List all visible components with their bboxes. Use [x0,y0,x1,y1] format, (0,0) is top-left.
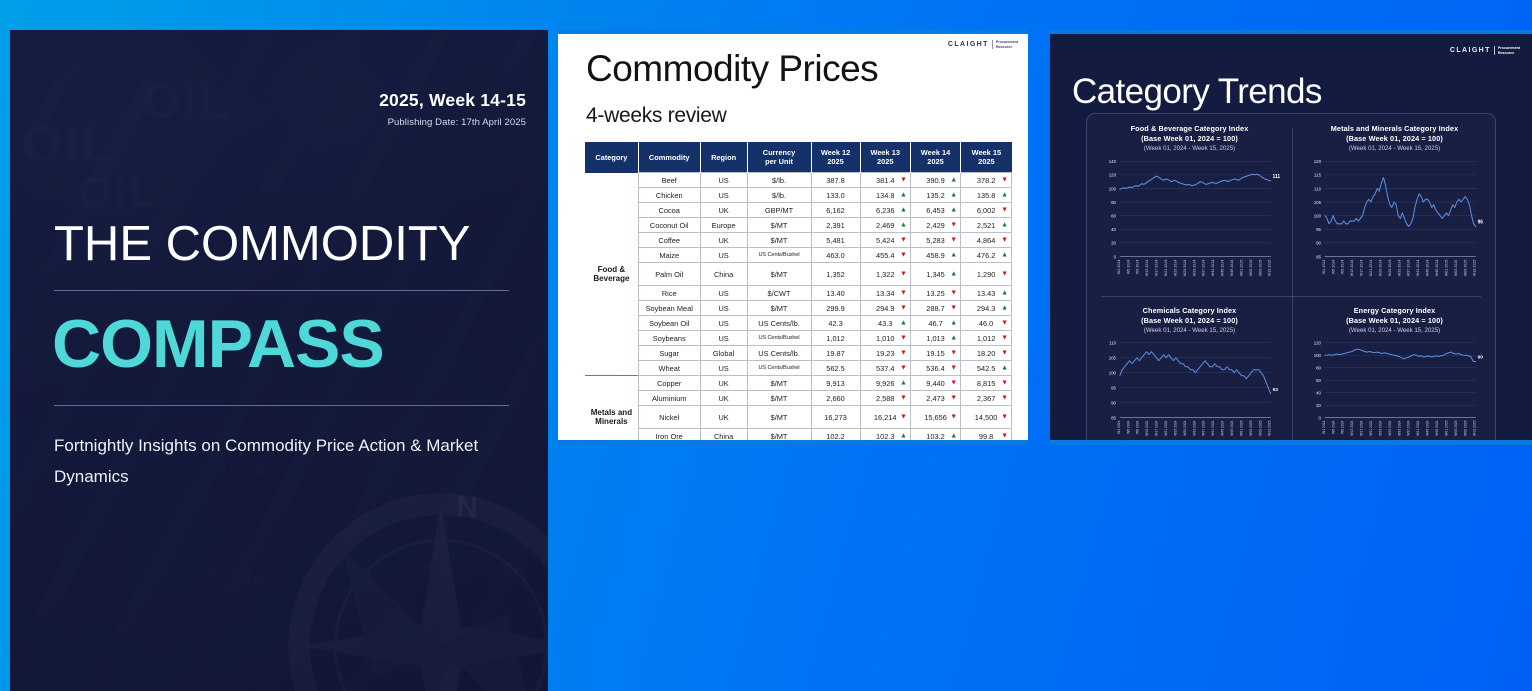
y-axis-tick-label: 120 [1109,173,1117,178]
arrow-down-icon: ▼ [950,350,957,357]
x-axis-tick-label: W45 2024 [1426,260,1430,277]
y-axis-tick-label: 90 [1111,400,1116,405]
week13-value: 19.23▼ [860,346,910,361]
x-axis-tick-label: W13 2025 [1268,260,1272,277]
week14-value: 19.15▼ [910,346,960,361]
cover-subtitle: Fortnightly Insights on Commodity Price … [54,430,504,492]
series-line [1120,174,1271,189]
week12-value: 2,069 [811,444,860,446]
week12-value: 133.0 [811,188,860,203]
x-axis-tick-label: W25 2024 [1173,420,1177,435]
currency-unit: $/MT [747,218,811,233]
week12-value: 6,162 [811,203,860,218]
week14-value: 135.2▲ [910,188,960,203]
week12-value: 299.9 [811,301,860,316]
week13-value: 43.3▲ [860,316,910,331]
commodity-name: Maize [638,248,700,263]
arrow-down-icon: ▼ [900,365,907,372]
series-end-label: 93 [1273,387,1279,393]
arrow-down-icon: ▼ [950,222,957,229]
chart-title: Metals and Minerals Category Index [1292,124,1497,134]
chart-range-note: (Week 01, 2024 - Week 15, 2025) [1087,326,1292,335]
week14-value: 458.9▲ [910,248,960,263]
region-name: China [700,429,747,444]
arrow-down-icon: ▼ [950,305,957,312]
x-axis-tick-label: W33 2024 [1192,420,1196,435]
week12-value: 19.87 [811,346,860,361]
category-spacer [585,444,638,446]
x-axis-tick-label: W29 2024 [1388,260,1392,277]
chart-subtitle: (Base Week 01, 2024 = 100) [1087,316,1292,326]
x-axis-tick-label: W37 2024 [1407,420,1411,435]
week14-value: 6,453▲ [910,203,960,218]
week14-value: 288.7▼ [910,301,960,316]
chart-metals-minerals[interactable]: Metals and Minerals Category Index (Base… [1292,114,1497,296]
week14-value: 1,969▼ [910,444,960,446]
category-spacer [585,233,638,248]
cover-divider-top [54,290,509,291]
week13-value: 381.4▼ [860,173,910,188]
table-row[interactable]: Metals andMineralsNickelUK$/MT16,27316,2… [585,406,1012,429]
category-spacer [585,391,638,406]
x-axis-tick-label: W41 2024 [1211,260,1215,277]
y-axis-tick-label: 95 [1316,227,1321,232]
commodity-name: Beef [638,173,700,188]
x-axis-tick-label: W25 2024 [1378,420,1382,435]
column-header-4[interactable]: Week 122025 [811,142,860,173]
currency-unit: $/CWT [747,286,811,301]
x-axis-tick-label: W13 2025 [1473,420,1477,435]
chart-title: Chemicals Category Index [1087,306,1292,316]
week14-value: 536.4▼ [910,361,960,376]
week14-value: 15,656▼ [910,406,960,429]
x-axis-tick-label: W17 2024 [1360,260,1364,277]
chart-range-note: (Week 01, 2024 - Week 15, 2025) [1292,144,1497,153]
column-header-1[interactable]: Commodity [638,142,700,173]
x-axis-tick-label: W1 2024 [1322,420,1326,433]
region-name: US [700,188,747,203]
x-axis-tick-label: W1 2024 [1117,260,1121,275]
arrow-down-icon: ▼ [900,395,907,402]
commodity-name: Copper [638,376,700,391]
chart-subtitle: (Base Week 01, 2024 = 100) [1292,316,1497,326]
x-axis-tick-label: W41 2024 [1416,260,1420,277]
region-name: US [700,331,747,346]
arrow-up-icon: ▲ [950,320,957,327]
chart-energy[interactable]: Energy Category Index (Base Week 01, 202… [1292,296,1497,445]
x-axis-tick-label: W49 2024 [1435,260,1439,277]
category-spacer [585,361,638,376]
x-axis-tick-label: W17 2024 [1155,260,1159,277]
arrow-down-icon: ▼ [900,414,907,421]
table-row[interactable]: WheatUSUS Cents/Bushel562.5537.4▼536.4▼5… [585,361,1012,376]
claight-logo: CLAIGHT Procurement Resource [948,40,1018,49]
claight-logo: CLAIGHT Procurement Resource [1450,46,1520,55]
week12-value: 13.40 [811,286,860,301]
week15-value: 99.8▼ [961,429,1012,444]
arrow-up-icon: ▲ [1001,290,1008,297]
arrow-down-icon: ▼ [900,290,907,297]
week15-value: 4,864▼ [961,233,1012,248]
table-row[interactable]: Coconut OilEurope$/MT2,3912,469▲2,429▼2,… [585,218,1012,233]
arrow-down-icon: ▼ [950,380,957,387]
arrow-down-icon: ▼ [1001,271,1008,278]
week13-value: 1,322▼ [860,263,910,286]
y-axis-tick-label: 0 [1319,415,1322,420]
category-spacer [585,248,638,263]
logo-tagline: Procurement Resource [996,40,1018,49]
cover-title-line2: COMPASS [52,310,384,378]
arrow-up-icon: ▲ [1001,192,1008,199]
week12-value: 42.3 [811,316,860,331]
week13-value: 102.3▲ [860,429,910,444]
chart-plot-area: 85909510010511093W1 2024W5 2024W9 2024W1… [1095,338,1286,445]
table-row[interactable]: Soybean MealUS$/MT299.9294.9▼288.7▼294.3… [585,301,1012,316]
x-axis-tick-label: W01 2025 [1239,420,1243,435]
week14-value: 1,013▲ [910,331,960,346]
currency-unit: $/MT [747,376,811,391]
y-axis-tick-label: 100 [1109,186,1117,191]
cover-content: 2025, Week 14-15 Publishing Date: 17th A… [10,30,548,691]
table-row[interactable]: CocoaUKGBP/MT6,1626,236▲6,453▲6,002▼ [585,203,1012,218]
x-axis-tick-label: W29 2024 [1183,420,1187,435]
x-axis-tick-label: W45 2024 [1221,260,1225,277]
chart-heading: Food & Beverage Category Index (Base Wee… [1087,114,1292,153]
region-name: Europe [700,218,747,233]
week15-value: 1,290▼ [961,263,1012,286]
category-label: Food &Beverage [585,263,638,286]
arrow-down-icon: ▼ [1001,207,1008,214]
y-axis-tick-label: 120 [1314,159,1322,164]
commodity-name: Cocoa [638,203,700,218]
cover-publishing-date: Publishing Date: 17th April 2025 [388,117,526,128]
page-title: Commodity Prices [586,48,878,90]
week15-value: 8,815▼ [961,376,1012,391]
currency-unit: $/lb. [747,173,811,188]
currency-unit: $/MT [747,391,811,406]
category-spacer [585,301,638,316]
chart-plot-area: 02040608010012090W1 2024W5 2024W9 2024W1… [1300,338,1491,445]
column-header-7[interactable]: Week 152025 [961,142,1012,173]
week14-value: 9,440▼ [910,376,960,391]
table-row[interactable]: SoybeansUSUS Cents/Bushel1,0121,010▼1,01… [585,331,1012,346]
x-axis-tick-label: W49 2024 [1230,420,1234,435]
week15-value: 6,002▼ [961,203,1012,218]
x-axis-tick-label: W41 2024 [1416,420,1420,435]
region-name: UK [700,233,747,248]
chart-subtitle: (Base Week 01, 2024 = 100) [1292,134,1497,144]
x-axis-tick-label: W05 2025 [1454,260,1458,277]
commodity-price-table[interactable]: CategoryCommodityRegionCurrencyper UnitW… [585,142,1012,445]
chart-plot-area: 020406080100120140111W1 2024W5 2024W9 20… [1095,156,1286,292]
cover-week-label: 2025, Week 14-15 [379,90,526,111]
x-axis-tick-label: W29 2024 [1388,420,1392,435]
currency-unit: $/MT [747,406,811,429]
region-name: UK [700,376,747,391]
week13-value: 2,469▲ [860,218,910,233]
arrow-down-icon: ▼ [1001,335,1008,342]
week14-value: 103.2▲ [910,429,960,444]
x-axis-tick-label: W17 2024 [1155,420,1159,435]
x-axis-tick-label: W1 2024 [1322,260,1326,275]
commodity-name: Iron Ore [638,429,700,444]
x-axis-tick-label: W01 2025 [1445,260,1449,277]
arrow-down-icon: ▼ [900,335,907,342]
commodity-name: Chicken [638,188,700,203]
x-axis-tick-label: W33 2024 [1192,260,1196,277]
arrow-up-icon: ▲ [950,192,957,199]
currency-unit: $/MT [747,301,811,316]
x-axis-tick-label: W13 2024 [1145,260,1149,277]
currency-unit: GBP/MT [747,203,811,218]
x-axis-tick-label: W05 2025 [1249,260,1253,277]
week14-value: 390.9▲ [910,173,960,188]
x-axis-tick-label: W09 2025 [1258,260,1262,277]
commodity-prices-slide[interactable]: CLAIGHT Procurement Resource Commodity P… [558,30,1028,445]
region-name: US [700,316,747,331]
table-row[interactable]: LeadUK$/MT2,0692,058▼1,969▼1,881▼ [585,444,1012,446]
x-axis-tick-label: W09 2025 [1463,260,1467,277]
y-axis-tick-label: 100 [1314,353,1322,358]
region-name: US [700,301,747,316]
y-axis-tick-label: 20 [1316,403,1321,408]
week15-value: 1,881▼ [961,444,1012,446]
cover-slide[interactable]: OIL OIL OIL FINE COPPER 1000g 999.9 N 20… [10,30,548,691]
region-name: US [700,173,747,188]
table-row[interactable]: AluminiumUK$/MT2,6602,588▼2,473▼2,367▼ [585,391,1012,406]
x-axis-tick-label: W09 2025 [1463,420,1467,435]
category-label: Metals andMinerals [585,406,638,429]
region-name: US [700,286,747,301]
arrow-down-icon: ▼ [1001,433,1008,440]
week15-value: 18.20▼ [961,346,1012,361]
x-axis-tick-label: W09 2025 [1258,420,1262,435]
y-axis-tick-label: 115 [1314,173,1321,178]
region-name: US [700,361,747,376]
week15-value: 2,367▼ [961,391,1012,406]
week12-value: 16,273 [811,406,860,429]
arrow-up-icon: ▲ [950,252,957,259]
x-axis-tick-label: W9 2024 [1136,260,1140,275]
chart-range-note: (Week 01, 2024 - Week 15, 2025) [1292,326,1497,335]
chart-food-beverage[interactable]: Food & Beverage Category Index (Base Wee… [1087,114,1292,296]
x-axis-tick-label: W21 2024 [1369,260,1373,277]
x-axis-tick-label: W49 2024 [1435,420,1439,435]
x-axis-tick-label: W21 2024 [1164,420,1168,435]
x-axis-tick-label: W13 2024 [1350,260,1354,277]
arrow-down-icon: ▼ [1001,380,1008,387]
week15-value: 2,521▲ [961,218,1012,233]
logo-wordmark: CLAIGHT [948,41,989,48]
x-axis-tick-label: W5 2024 [1126,420,1130,433]
arrow-up-icon: ▲ [1001,252,1008,259]
chart-heading: Chemicals Category Index (Base Week 01, … [1087,296,1292,335]
y-axis-tick-label: 20 [1111,241,1116,246]
week14-value: 1,345▲ [910,263,960,286]
arrow-down-icon: ▼ [900,350,907,357]
y-axis-tick-label: 85 [1111,415,1116,420]
x-axis-tick-label: W05 2025 [1454,420,1458,435]
week13-value: 13.34▼ [860,286,910,301]
week13-value: 16,214▼ [860,406,910,429]
region-name: US [700,248,747,263]
arrow-down-icon: ▼ [900,177,907,184]
x-axis-tick-label: W9 2024 [1341,260,1345,275]
column-header-3[interactable]: Currencyper Unit [747,142,811,173]
week14-value: 2,473▼ [910,391,960,406]
y-axis-tick-label: 40 [1316,390,1321,395]
x-axis-tick-label: W21 2024 [1369,420,1373,435]
x-axis-tick-label: W5 2024 [1331,420,1335,433]
region-name: UK [700,406,747,429]
commodity-name: Soybeans [638,331,700,346]
region-name: UK [700,391,747,406]
week15-value: 476.2▲ [961,248,1012,263]
x-axis-tick-label: W5 2024 [1126,260,1130,275]
logo-divider [992,40,993,49]
x-axis-tick-label: W37 2024 [1202,420,1206,435]
arrow-up-icon: ▲ [900,192,907,199]
table-row[interactable]: Soybean OilUSUS Cents/lb.42.343.3▲46.7▲4… [585,316,1012,331]
logo-tagline: Procurement Resource [1498,46,1520,55]
week12-value: 5,481 [811,233,860,248]
arrow-down-icon: ▼ [1001,177,1008,184]
chart-plot-area: 85909510010511011512096W1 2024W5 2024W9 … [1300,156,1491,292]
chart-title: Food & Beverage Category Index [1087,124,1292,134]
currency-unit: $/lb. [747,188,811,203]
cover-divider-bottom [54,405,509,406]
logo-divider [1494,46,1495,55]
x-axis-tick-label: W37 2024 [1202,260,1206,277]
table-row[interactable]: SugarGlobalUS Cents/lb.19.8719.23▼19.15▼… [585,346,1012,361]
arrow-down-icon: ▼ [950,395,957,402]
currency-unit: US Cents/Bushel [747,361,811,376]
week14-value: 46.7▲ [910,316,960,331]
y-axis-tick-label: 110 [1109,340,1117,345]
commodity-name: Soybean Meal [638,301,700,316]
region-name: Global [700,346,747,361]
x-axis-tick-label: W13 2025 [1268,420,1272,435]
table-row[interactable]: RiceUS$/CWT13.4013.34▼13.25▼13.43▲ [585,286,1012,301]
arrow-up-icon: ▲ [900,433,907,440]
week12-value: 463.0 [811,248,860,263]
arrow-down-icon: ▼ [900,271,907,278]
x-axis-tick-label: W21 2024 [1164,260,1168,277]
x-axis-tick-label: W01 2025 [1240,260,1244,277]
week13-value: 294.9▼ [860,301,910,316]
category-trends-slide[interactable]: CLAIGHT Procurement Resource Category Tr… [1050,30,1532,445]
column-header-2[interactable]: Region [700,142,747,173]
week12-value: 387.8 [811,173,860,188]
y-axis-tick-label: 0 [1114,254,1117,259]
column-header-0[interactable]: Category [585,142,638,173]
arrow-up-icon: ▲ [950,207,957,214]
table-row[interactable]: Iron OreChina$/MT102.2102.3▲103.2▲99.8▼ [585,429,1012,444]
table-row[interactable]: ChickenUS$/lb.133.0134.8▲135.2▲135.8▲ [585,188,1012,203]
y-axis-tick-label: 60 [1111,213,1116,218]
arrow-down-icon: ▼ [900,252,907,259]
arrow-up-icon: ▲ [950,271,957,278]
week15-value: 13.43▲ [961,286,1012,301]
table-row[interactable]: CoffeeUK$/MT5,4815,424▼5,283▼4,864▼ [585,233,1012,248]
category-spacer [585,188,638,203]
x-axis-tick-label: W37 2024 [1407,260,1411,277]
cover-title-line1: THE COMMODITY [54,220,470,269]
commodity-name: Nickel [638,406,700,429]
column-header-5[interactable]: Week 132025 [860,142,910,173]
table-row[interactable]: Food &BeveragePalm OilChina$/MT1,3521,32… [585,263,1012,286]
x-axis-tick-label: W9 2024 [1341,420,1345,433]
arrow-down-icon: ▼ [950,414,957,421]
chart-subtitle: (Base Week 01, 2024 = 100) [1087,134,1292,144]
y-axis-tick-label: 80 [1111,200,1116,205]
category-spacer [585,346,638,361]
commodity-name: Lead [638,444,700,446]
page-title: Category Trends [1072,72,1322,112]
arrow-down-icon: ▼ [1001,414,1008,421]
arrow-up-icon: ▲ [950,177,957,184]
week13-value: 9,926▲ [860,376,910,391]
y-axis-tick-label: 100 [1314,213,1322,218]
x-axis-tick-label: W01 2025 [1444,420,1448,435]
currency-unit: $/MT [747,233,811,248]
region-name: UK [700,444,747,446]
category-spacer [585,429,638,444]
week15-value: 135.8▲ [961,188,1012,203]
arrow-down-icon: ▼ [900,237,907,244]
y-axis-tick-label: 120 [1314,340,1322,345]
y-axis-tick-label: 80 [1316,365,1321,370]
table-row[interactable]: CopperUK$/MT9,9139,926▲9,440▼8,815▼ [585,376,1012,391]
arrow-up-icon: ▲ [900,320,907,327]
week12-value: 562.5 [811,361,860,376]
week13-value: 134.8▲ [860,188,910,203]
logo-wordmark: CLAIGHT [1450,47,1491,54]
x-axis-tick-label: W5 2024 [1331,260,1335,275]
x-axis-tick-label: W33 2024 [1397,260,1401,277]
x-axis-tick-label: W1 2024 [1117,420,1121,433]
charts-panel: Food & Beverage Category Index (Base Wee… [1086,113,1496,445]
currency-unit: $/MT [747,444,811,446]
region-name: UK [700,203,747,218]
currency-unit: US Cents/Bushel [747,331,811,346]
week13-value: 455.4▼ [860,248,910,263]
table-body: BeefUS$/lb.387.8381.4▼390.9▲378.2▼ Chick… [585,173,1012,446]
currency-unit: US Cents/lb. [747,316,811,331]
table-row[interactable]: BeefUS$/lb.387.8381.4▼390.9▲378.2▼ [585,173,1012,188]
category-spacer [585,218,638,233]
week15-value: 378.2▼ [961,173,1012,188]
commodity-name: Aluminium [638,391,700,406]
week13-value: 537.4▼ [860,361,910,376]
arrow-up-icon: ▲ [900,207,907,214]
y-axis-tick-label: 40 [1111,227,1116,232]
x-axis-tick-label: W25 2024 [1379,260,1383,277]
chart-chemicals[interactable]: Chemicals Category Index (Base Week 01, … [1087,296,1292,445]
y-axis-tick-label: 105 [1314,200,1322,205]
category-spacer [585,203,638,218]
y-axis-tick-label: 100 [1109,370,1117,375]
arrow-up-icon: ▲ [1001,305,1008,312]
arrow-down-icon: ▼ [950,237,957,244]
week13-value: 1,010▼ [860,331,910,346]
week15-value: 14,500▼ [961,406,1012,429]
table-row[interactable]: MaizeUSUS Cents/Bushel463.0455.4▼458.9▲4… [585,248,1012,263]
column-header-6[interactable]: Week 142025 [910,142,960,173]
week15-value: 1,012▼ [961,331,1012,346]
category-spacer [585,173,638,188]
currency-unit: $/MT [747,429,811,444]
